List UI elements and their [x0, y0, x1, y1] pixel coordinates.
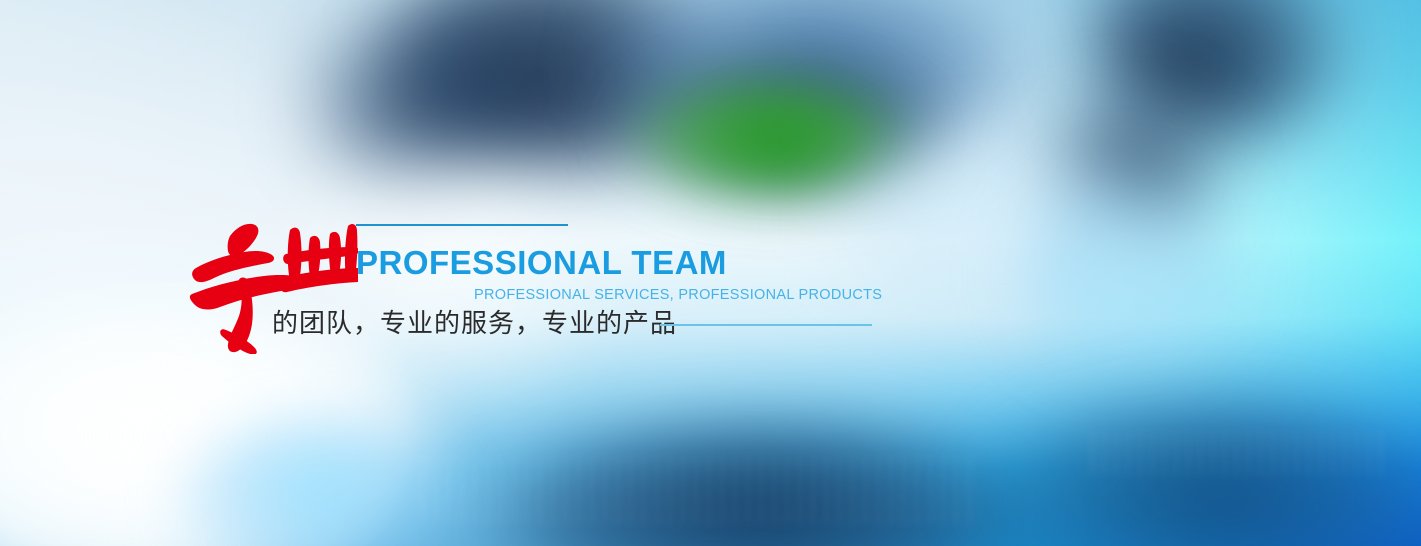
- accent-rule-top: [356, 224, 568, 226]
- hero-banner: PROFESSIONAL TEAM PROFESSIONAL SERVICES,…: [0, 0, 1421, 546]
- headline-title-en: PROFESSIONAL TEAM: [356, 244, 727, 282]
- headline-subtitle-cn: 的团队，专业的服务，专业的产品: [272, 307, 677, 341]
- accent-rule-bottom: [660, 324, 872, 326]
- headline-block: PROFESSIONAL TEAM PROFESSIONAL SERVICES,…: [0, 0, 1421, 546]
- headline-subtitle-en: PROFESSIONAL SERVICES, PROFESSIONAL PROD…: [474, 286, 882, 304]
